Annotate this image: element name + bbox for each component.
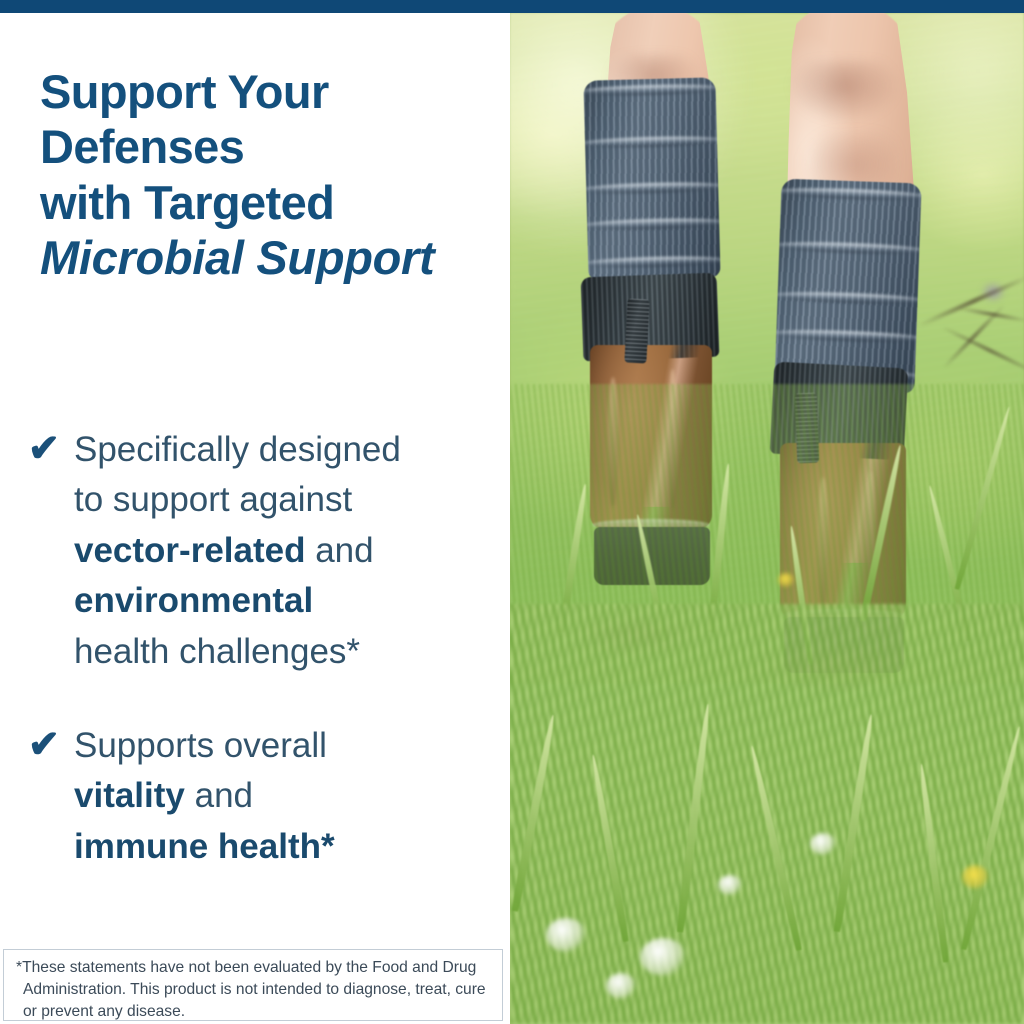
benefit-text-1: Specifically designed to support against…	[74, 425, 498, 677]
benefit-emphasis: vector-related	[74, 531, 305, 570]
fda-disclaimer-box: *These statements have not been evaluate…	[3, 949, 503, 1021]
disclaimer-text: *These statements have not been evaluate…	[16, 957, 492, 1023]
headline-line-3: with Targeted	[40, 175, 585, 230]
hero-photo	[510, 13, 1024, 1024]
headline-line-1: Support Your	[40, 64, 585, 119]
headline-line-2: Defenses	[40, 119, 585, 174]
benefit-list: ✔ Specifically designed to support again…	[28, 425, 498, 916]
yellow-wildflower	[778, 573, 794, 587]
page-title: Support Your Defenses with Targeted Micr…	[40, 64, 585, 286]
right-knee-shading	[788, 61, 900, 123]
benefit-emphasis: immune health*	[74, 827, 335, 866]
list-item: ✔ Supports overall vitality and immune h…	[28, 721, 498, 872]
checkmark-icon: ✔	[28, 425, 74, 474]
clover-flower	[546, 918, 586, 952]
benefit-line: to support against	[74, 480, 352, 519]
clover-flower	[640, 938, 686, 976]
clover-flower	[606, 973, 636, 999]
benefit-line: Supports overall	[74, 726, 327, 765]
benefit-emphasis: environmental	[74, 581, 313, 620]
benefit-line: health challenges*	[74, 632, 360, 671]
checkmark-icon: ✔	[28, 721, 74, 770]
clover-flower	[718, 875, 742, 895]
clover-flower	[810, 833, 836, 855]
benefit-line: and	[305, 531, 373, 570]
benefit-emphasis: vitality	[74, 776, 185, 815]
list-item: ✔ Specifically designed to support again…	[28, 425, 498, 677]
boot-pull-tab	[624, 298, 649, 363]
brand-accent-bar	[0, 0, 1024, 13]
tab-ridge-texture	[624, 298, 649, 363]
yellow-wildflower	[962, 865, 988, 889]
benefit-line: and	[185, 776, 253, 815]
benefit-line: Specifically designed	[74, 430, 401, 469]
headline-line-4: Microbial Support	[40, 230, 585, 285]
benefit-text-2: Supports overall vitality and immune hea…	[74, 721, 498, 872]
promotional-graphic: Support Your Defenses with Targeted Micr…	[0, 0, 1024, 1024]
